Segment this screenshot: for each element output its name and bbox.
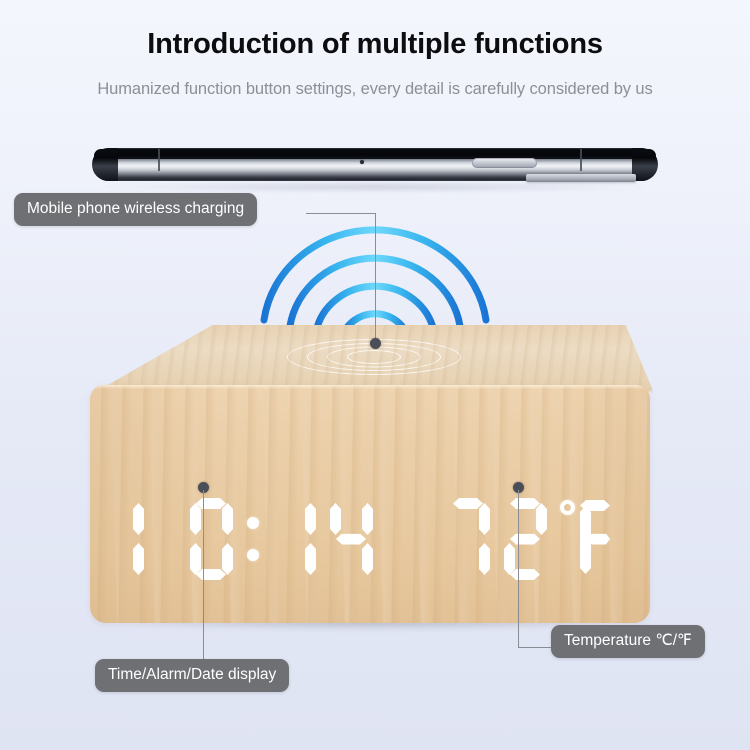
segment-e bbox=[133, 543, 144, 575]
segment-b bbox=[305, 503, 316, 535]
colon-dot-bottom bbox=[247, 549, 259, 561]
leader-line-temperature-vertical bbox=[518, 490, 519, 648]
phone-side-button bbox=[472, 158, 537, 168]
phone-left-edge bbox=[92, 148, 118, 181]
segment-e bbox=[190, 543, 201, 575]
segment-b bbox=[479, 503, 490, 535]
segment-b bbox=[222, 503, 233, 535]
segment-g bbox=[336, 534, 366, 545]
phone-microphone-icon bbox=[360, 160, 364, 164]
phone-antenna-band-right bbox=[580, 149, 582, 171]
segment-c bbox=[362, 543, 373, 575]
led-digit-minute-ones bbox=[328, 498, 375, 580]
led-digit-temp-ones bbox=[502, 498, 549, 580]
led-digit-hour-ones bbox=[188, 498, 235, 580]
led-digit-hour-tens bbox=[131, 498, 178, 580]
led-colon-separator bbox=[242, 498, 264, 580]
infographic-stage: Introduction of multiple functions Human… bbox=[0, 0, 750, 750]
segment-d bbox=[196, 569, 226, 580]
segment-a bbox=[453, 498, 483, 509]
phone-antenna-band-left bbox=[158, 149, 160, 171]
page-subtitle: Humanized function button settings, ever… bbox=[0, 80, 750, 99]
page-title: Introduction of multiple functions bbox=[0, 28, 750, 61]
led-temperature-unit-fahrenheit bbox=[558, 498, 614, 580]
degree-symbol-icon bbox=[560, 500, 575, 515]
callout-time-alarm-date-display[interactable]: Time/Alarm/Date display bbox=[95, 659, 289, 692]
segment-b bbox=[362, 503, 373, 535]
segment-a bbox=[510, 498, 540, 509]
wooden-led-alarm-clock bbox=[88, 325, 654, 625]
phone-base-plate bbox=[526, 174, 636, 182]
phone-shadow bbox=[102, 182, 648, 192]
clock-top-surface bbox=[88, 325, 654, 393]
segment-b bbox=[536, 503, 547, 535]
segment-d bbox=[510, 569, 540, 580]
coil-ring-1 bbox=[347, 350, 401, 364]
leader-line-time-vertical bbox=[203, 490, 204, 662]
colon-dot-top bbox=[247, 517, 259, 529]
segment-e bbox=[504, 543, 515, 575]
clock-top-edge-highlight bbox=[90, 385, 650, 389]
smartphone-side-view bbox=[92, 148, 658, 190]
segment-c bbox=[305, 543, 316, 575]
segment-g bbox=[510, 534, 540, 545]
led-digit-temp-tens bbox=[445, 498, 492, 580]
callout-mobile-phone-wireless-charging[interactable]: Mobile phone wireless charging bbox=[14, 193, 257, 226]
clock-front-face bbox=[90, 385, 650, 623]
segment-a bbox=[196, 498, 226, 509]
segment-f bbox=[190, 503, 201, 535]
marker-dot-wireless-charging bbox=[370, 338, 381, 349]
leader-line-wireless-vertical bbox=[375, 213, 376, 344]
segment-f bbox=[133, 503, 144, 535]
segment-c bbox=[222, 543, 233, 575]
segment-f bbox=[330, 503, 341, 535]
callout-temperature-units[interactable]: Temperature ℃/℉ bbox=[551, 625, 705, 658]
segment-c bbox=[479, 543, 490, 575]
coil-ring-2 bbox=[327, 347, 421, 368]
led-digit-minute-tens bbox=[271, 498, 318, 580]
leader-line-wireless-horizontal bbox=[306, 213, 376, 214]
led-display bbox=[90, 493, 650, 585]
